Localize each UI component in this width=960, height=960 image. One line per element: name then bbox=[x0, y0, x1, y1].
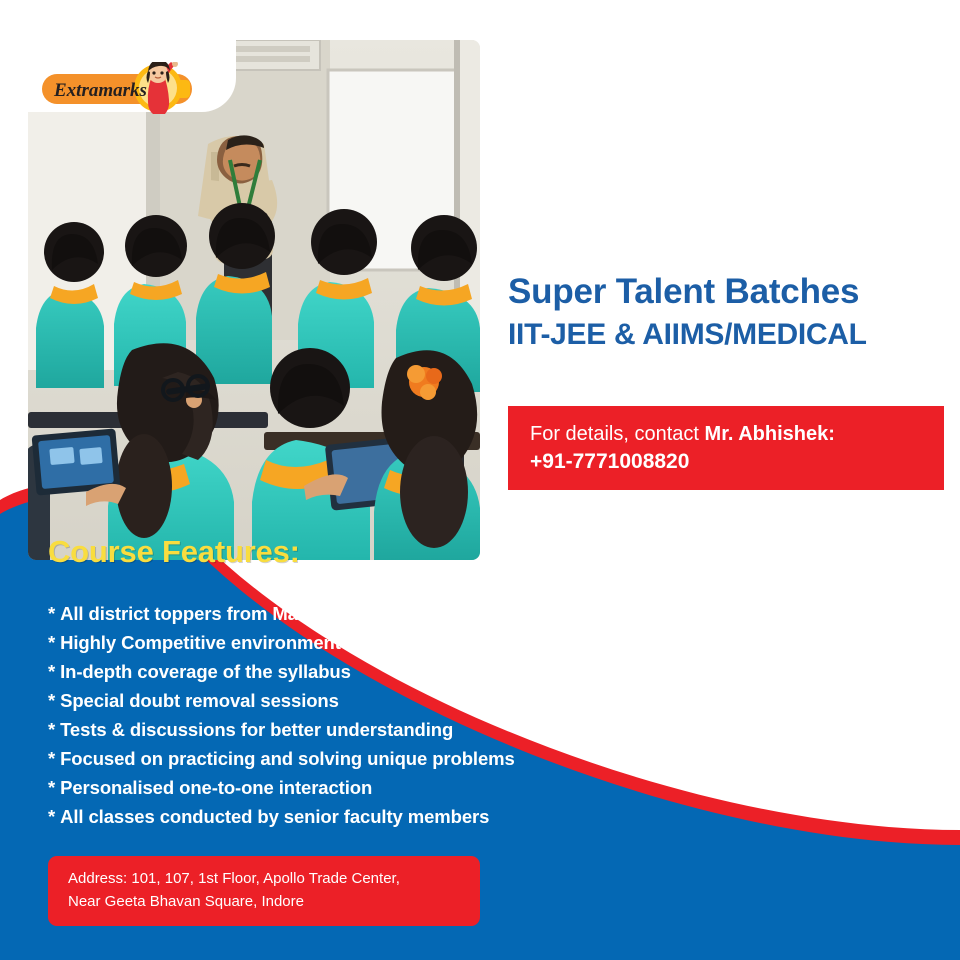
extramarks-logo: Extramarks bbox=[40, 62, 210, 114]
list-item: *In-depth coverage of the syllabus bbox=[48, 657, 648, 686]
bullet-star-icon: * bbox=[48, 661, 55, 682]
poster-canvas: Extramarks Super Talent Batches IIT-JEE … bbox=[0, 0, 960, 960]
bullet-star-icon: * bbox=[48, 777, 55, 798]
list-item-label: All classes conducted by senior faculty … bbox=[60, 806, 489, 827]
contact-banner[interactable]: For details, contact Mr. Abhishek: +91-7… bbox=[508, 406, 944, 490]
list-item: *Personalised one-to-one interaction bbox=[48, 773, 648, 802]
list-item: *Focused on practicing and solving uniqu… bbox=[48, 744, 648, 773]
list-item-label: Highly Competitive environment bbox=[60, 632, 341, 653]
list-item-label: All district toppers from Madhya Pradesh bbox=[60, 603, 418, 624]
contact-prefix-text: For details, contact bbox=[530, 423, 705, 445]
page-subtitle: IIT-JEE & AIIMS/MEDICAL bbox=[508, 317, 944, 352]
contact-person-line: For details, contact Mr. Abhishek: bbox=[530, 420, 924, 448]
bullet-star-icon: * bbox=[48, 632, 55, 653]
course-features-section: Course Features: *All district toppers f… bbox=[48, 534, 648, 831]
bullet-star-icon: * bbox=[48, 603, 55, 624]
course-features-title: Course Features: bbox=[48, 534, 648, 570]
page-title: Super Talent Batches bbox=[508, 272, 944, 311]
address-line-1: Address: 101, 107, 1st Floor, Apollo Tra… bbox=[68, 867, 462, 890]
heading-block: Super Talent Batches IIT-JEE & AIIMS/MED… bbox=[508, 272, 944, 353]
contact-person-name: Mr. Abhishek: bbox=[705, 423, 835, 445]
bullet-star-icon: * bbox=[48, 719, 55, 740]
bullet-star-icon: * bbox=[48, 690, 55, 711]
list-item: *All district toppers from Madhya Prades… bbox=[48, 599, 648, 628]
extramarks-logo-icon: Extramarks bbox=[40, 62, 210, 114]
address-box: Address: 101, 107, 1st Floor, Apollo Tra… bbox=[48, 856, 480, 926]
classroom-photo-illustration bbox=[28, 40, 480, 560]
address-line-2: Near Geeta Bhavan Square, Indore bbox=[68, 890, 462, 913]
list-item-label: Focused on practicing and solving unique… bbox=[60, 748, 515, 769]
bullet-star-icon: * bbox=[48, 748, 55, 769]
logo-wordmark: Extramarks bbox=[53, 80, 147, 101]
list-item: *Tests & discussions for better understa… bbox=[48, 715, 648, 744]
bullet-star-icon: * bbox=[48, 806, 55, 827]
course-features-list: *All district toppers from Madhya Prades… bbox=[48, 599, 648, 831]
contact-phone-number[interactable]: +91-7771008820 bbox=[530, 448, 924, 476]
list-item: *All classes conducted by senior faculty… bbox=[48, 802, 648, 831]
list-item: *Highly Competitive environment bbox=[48, 628, 648, 657]
classroom-photo bbox=[28, 40, 480, 560]
list-item-label: Personalised one-to-one interaction bbox=[60, 777, 372, 798]
list-item-label: In-depth coverage of the syllabus bbox=[60, 661, 351, 682]
list-item-label: Tests & discussions for better understan… bbox=[60, 719, 453, 740]
list-item-label: Special doubt removal sessions bbox=[60, 690, 339, 711]
list-item: *Special doubt removal sessions bbox=[48, 686, 648, 715]
